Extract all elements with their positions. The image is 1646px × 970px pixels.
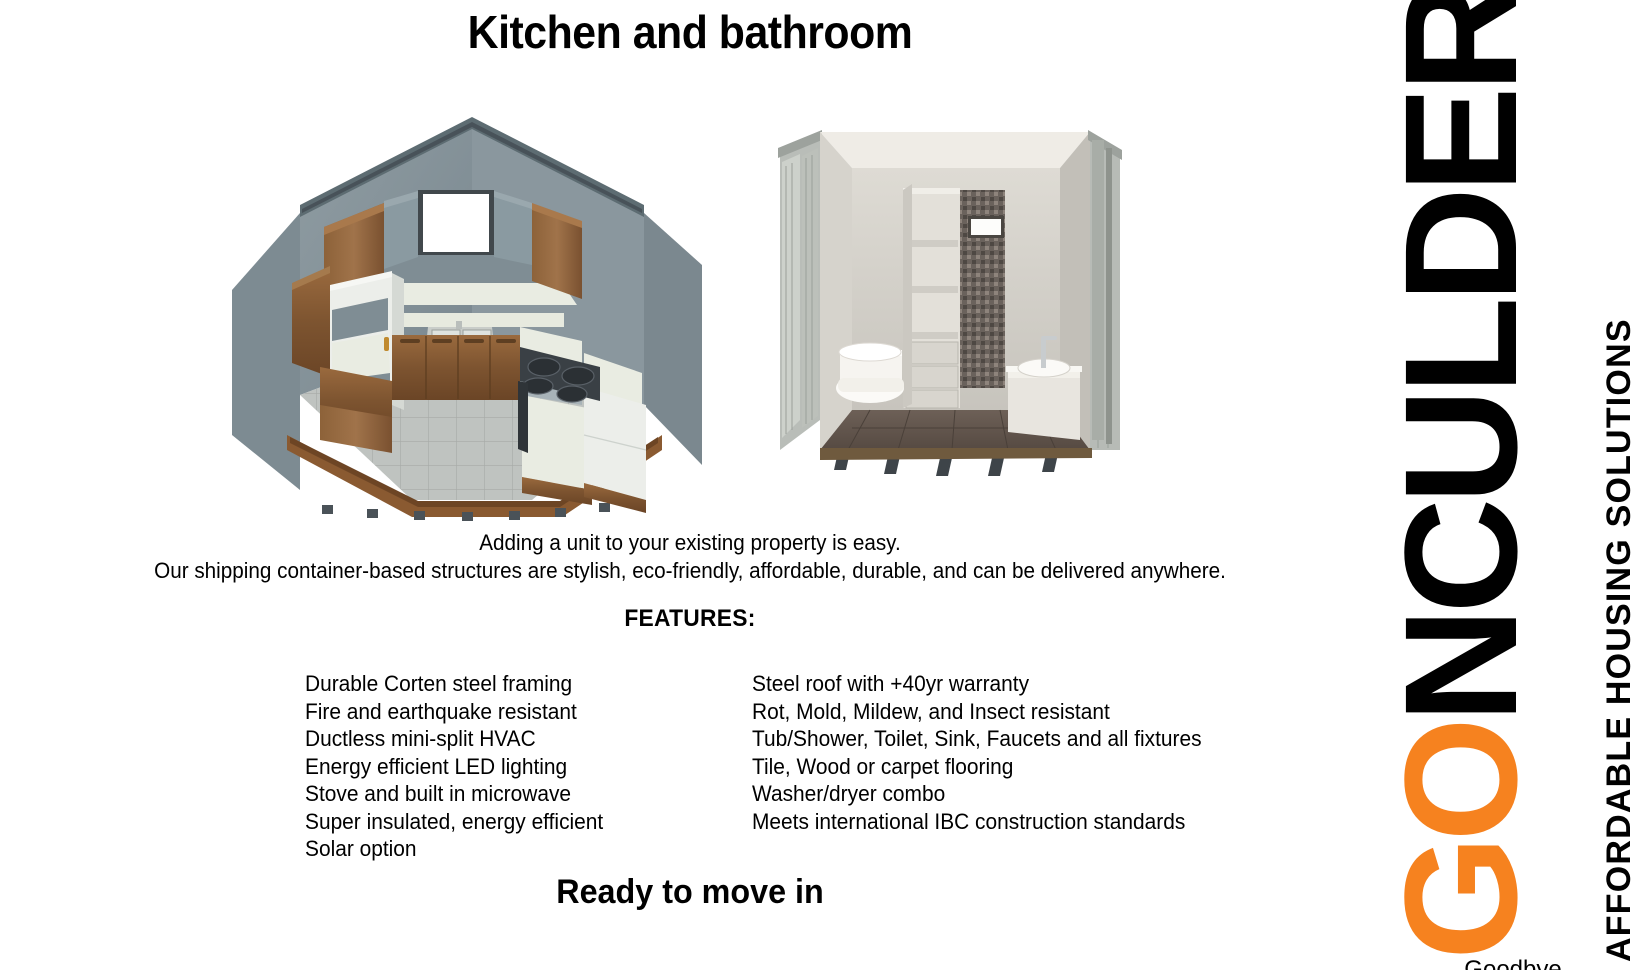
feature-item: Steel roof with +40yr warranty — [752, 670, 1199, 698]
logo-wordmark-orange: GO — [1380, 723, 1550, 960]
feature-item: Rot, Mold, Mildew, and Insect resistant — [752, 698, 1199, 726]
bathroom-render-image — [760, 120, 1135, 510]
logo-bottom-text: Goodbye — [1380, 956, 1646, 970]
features-heading: FEATURES: — [35, 605, 1346, 633]
logo-tagline: AFFORDABLE HOUSING SOLUTIONS — [1602, 318, 1636, 962]
feature-item: Meets international IBC construction sta… — [752, 808, 1199, 836]
feature-item: Stove and built in microwave — [305, 780, 714, 808]
feature-item: Super insulated, energy efficient — [305, 808, 714, 836]
feature-item: Tub/Shower, Toilet, Sink, Faucets and al… — [752, 725, 1199, 753]
feature-item: Fire and earthquake resistant — [305, 698, 714, 726]
page-title: Kitchen and bathroom — [48, 5, 1331, 59]
intro-line-2: Our shipping container-based structures … — [41, 558, 1338, 584]
slide-page: Kitchen and bathroom — [0, 0, 1646, 970]
kitchen-render-image — [232, 105, 702, 525]
features-list-left: Durable Corten steel framing Fire and ea… — [305, 670, 735, 863]
feature-item: Solar option — [305, 835, 714, 863]
feature-item: Washer/dryer combo — [752, 780, 1199, 808]
logo-wordmark-black: NCULDERO — [1380, 0, 1550, 723]
closing-heading: Ready to move in — [35, 873, 1346, 912]
feature-item: Durable Corten steel framing — [305, 670, 714, 698]
brand-logo-panel: GONCULDERO AFFORDABLE HOUSING SOLUTIONS … — [1380, 0, 1646, 970]
feature-item: Tile, Wood or carpet flooring — [752, 753, 1199, 781]
feature-item: Ductless mini-split HVAC — [305, 725, 714, 753]
feature-item: Energy efficient LED lighting — [305, 753, 714, 781]
logo-wordmark: GONCULDERO — [1381, 0, 1541, 960]
intro-line-1: Adding a unit to your existing property … — [41, 530, 1338, 556]
slide-content: Kitchen and bathroom — [0, 0, 1380, 970]
features-list-right: Steel roof with +40yr warranty Rot, Mold… — [752, 670, 1222, 835]
